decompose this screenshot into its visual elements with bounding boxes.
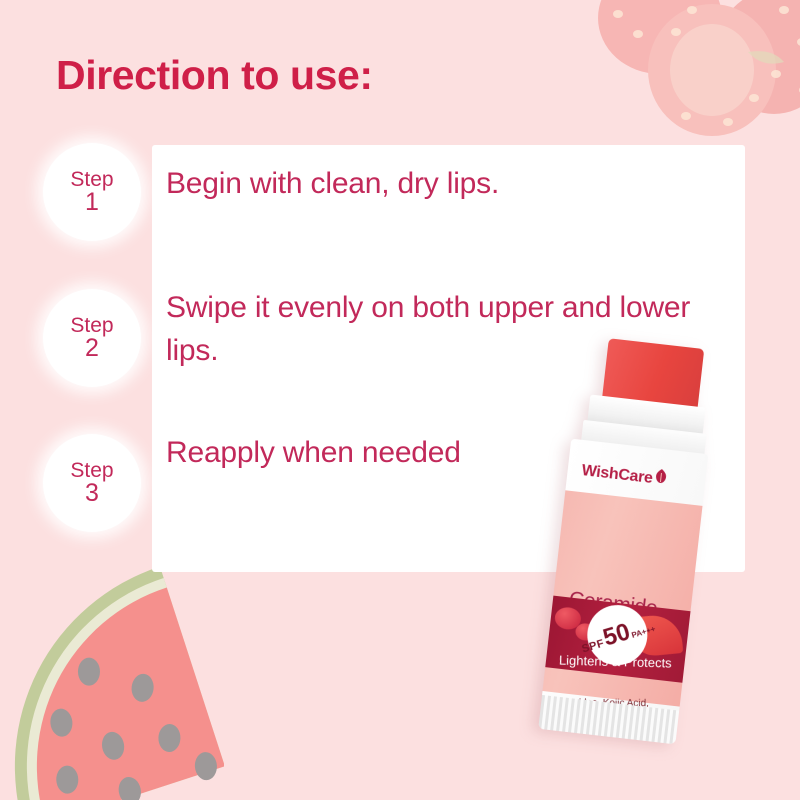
tube-body: WishCare Ceramide Lip Balm TINTED Cerami…	[538, 439, 708, 745]
step-badge-1: Step 1	[43, 143, 141, 241]
step-badge-number-1: 1	[85, 190, 99, 216]
step-badge-number-2: 2	[85, 336, 99, 362]
tube-label: Ceramide Lip Balm TINTED Ceramides, Koji…	[543, 490, 703, 706]
step-badge-word-3: Step	[70, 460, 113, 481]
product-infographic: Direction to use: Begin with clean, dry …	[0, 0, 800, 800]
brand-logo: WishCare	[581, 462, 669, 490]
strawberry-cluster-icon	[588, 0, 800, 141]
spf-value: 50	[601, 621, 633, 649]
step-badge-word-1: Step	[70, 169, 113, 190]
brand-name: WishCare	[581, 462, 654, 488]
watermelon-slice-icon	[0, 556, 224, 800]
step-badge-2: Step 2	[43, 289, 141, 387]
leaf-mark-icon	[654, 467, 669, 484]
step-badge-word-2: Step	[70, 315, 113, 336]
claim-band: SPF 50 PA+++ Lightens & Protects	[541, 595, 694, 683]
page-title: Direction to use:	[56, 52, 373, 99]
step-text-1: Begin with clean, dry lips.	[166, 163, 696, 206]
product-claim: Lightens & Protects	[542, 652, 688, 671]
step-badge-3: Step 3	[43, 434, 141, 532]
step-badge-number-3: 3	[85, 481, 99, 507]
